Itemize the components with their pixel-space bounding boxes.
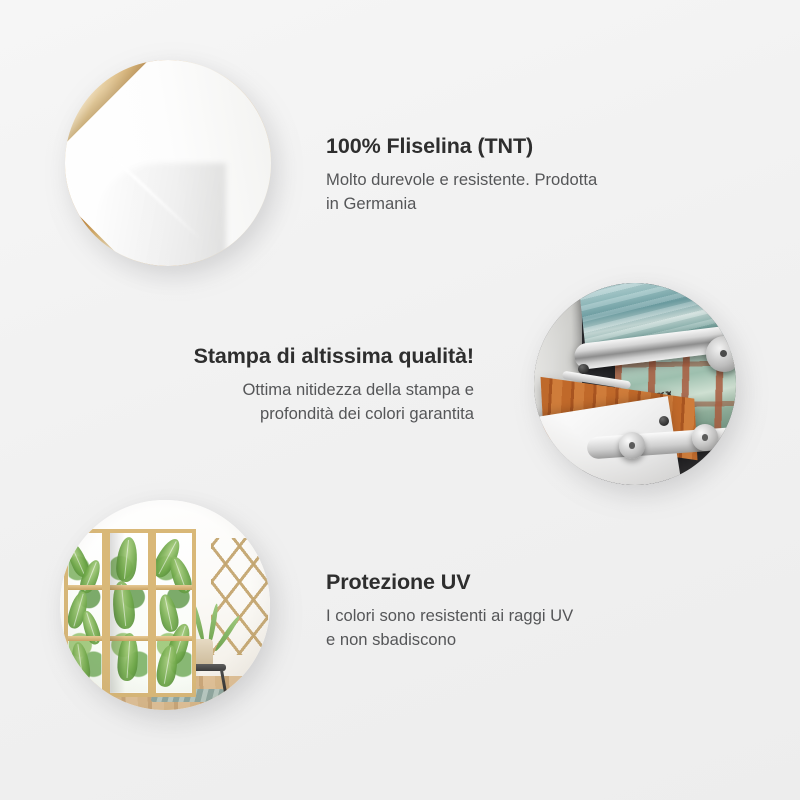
circle-mask-2 (534, 283, 736, 485)
feature-body-fliselina-line-1: Molto durevole e resistente. Prodotta (326, 168, 666, 192)
tropical-room-divider-photo (60, 500, 270, 710)
feature-heading-stampa: Stampa di altissima qualità! (134, 344, 474, 369)
feature-body-stampa-line-2: profondità dei colori garantita (134, 402, 474, 426)
circle-mask-1 (65, 60, 271, 266)
product-features-banner: 100% Fliselina (TNT) Molto durevole e re… (0, 0, 800, 800)
feature-text-protezione-uv: Protezione UV I colori sono resistenti a… (326, 570, 666, 651)
wallpaper-roll-peel-photo (65, 60, 271, 266)
peel-curl-shadow (98, 163, 226, 266)
circle-mask-3 (60, 500, 270, 710)
photo-vignette-3 (60, 500, 270, 710)
feature-heading-protezione-uv: Protezione UV (326, 570, 666, 595)
feature-body-fliselina-line-2: in Germania (326, 192, 666, 216)
feature-heading-fliselina: 100% Fliselina (TNT) (326, 134, 666, 159)
printing-machine-photo (534, 283, 736, 485)
feature-body-protezione-uv-line-1: I colori sono resistenti ai raggi UV (326, 604, 666, 628)
feature-body-stampa-line-1: Ottima nitidezza della stampa e (134, 378, 474, 402)
feature-text-stampa: Stampa di altissima qualità! Ottima niti… (134, 344, 474, 425)
feature-body-protezione-uv-line-2: e non sbadiscono (326, 628, 666, 652)
photo-vignette-2 (534, 283, 736, 485)
feature-text-fliselina: 100% Fliselina (TNT) Molto durevole e re… (326, 134, 666, 215)
